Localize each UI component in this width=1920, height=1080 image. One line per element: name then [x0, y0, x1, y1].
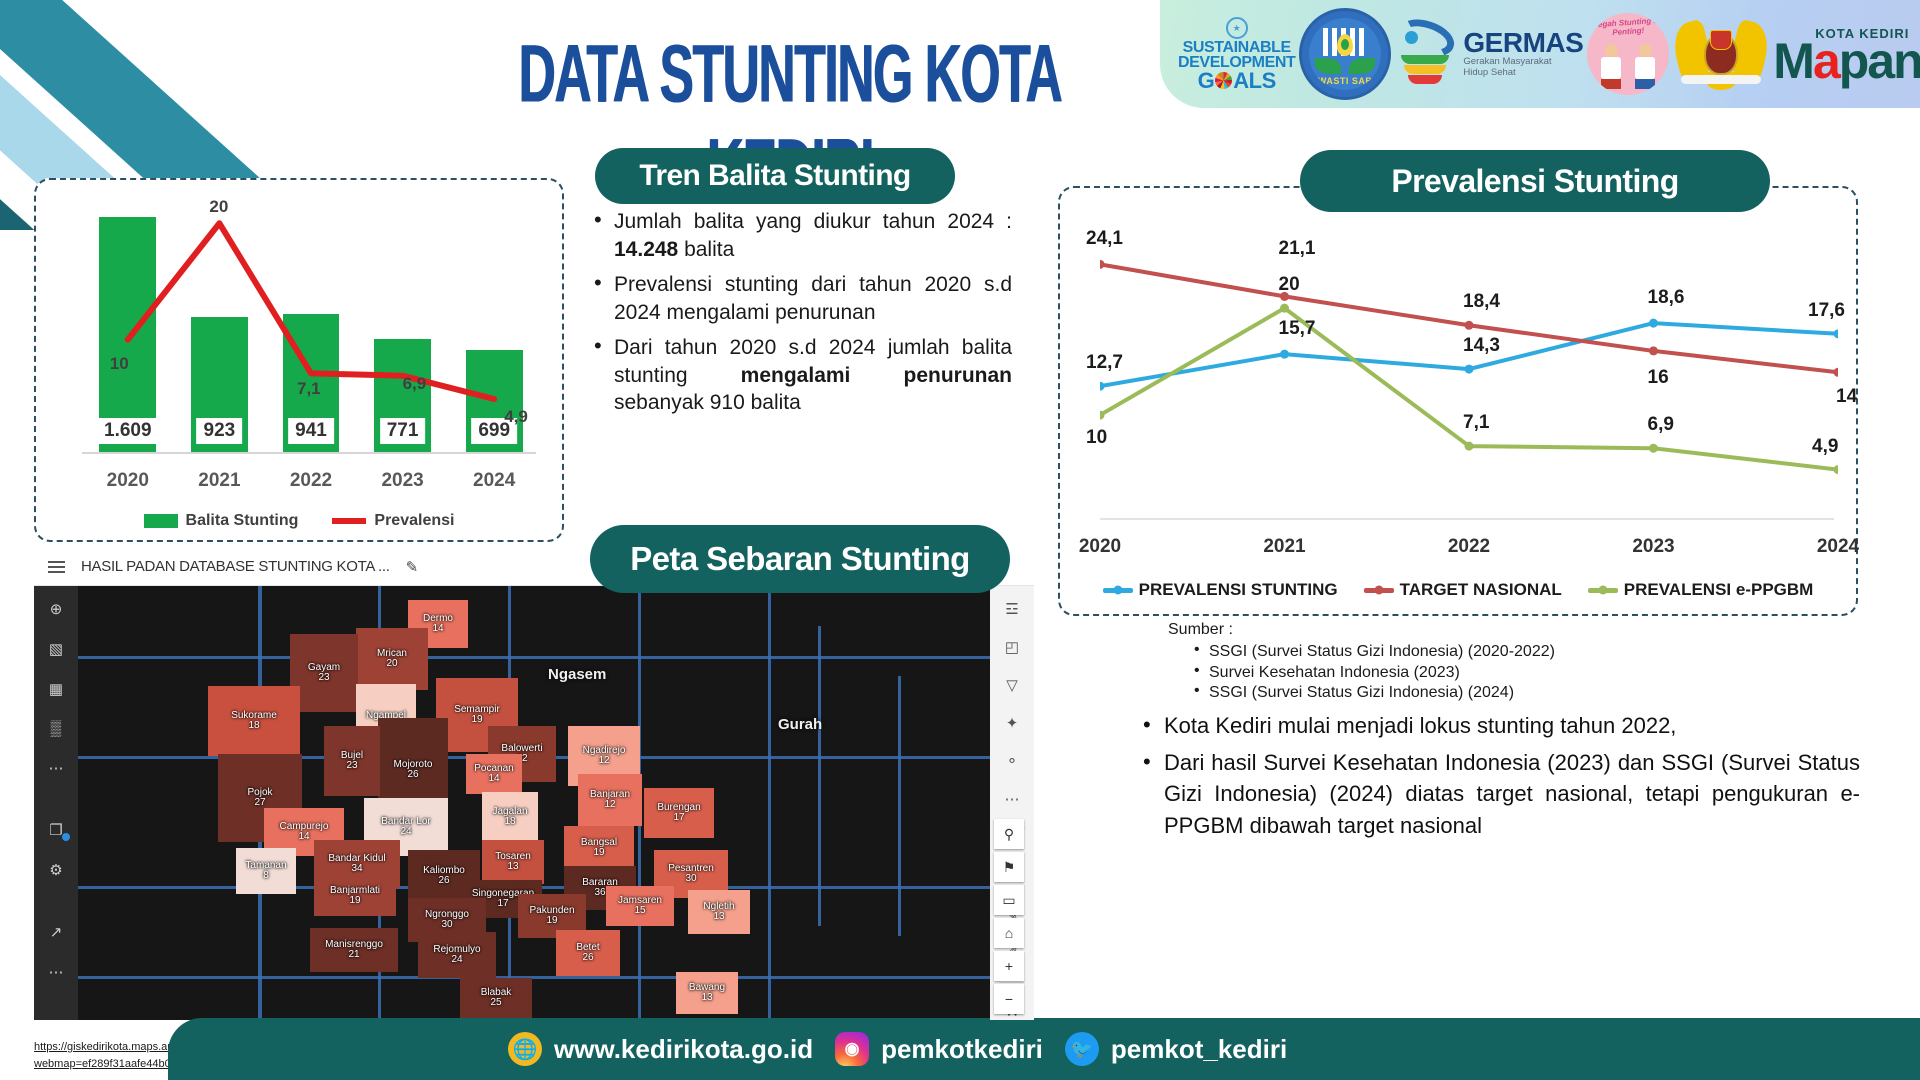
- line-x-tick: 2023: [1610, 536, 1698, 558]
- map-place-label: Gurah: [778, 716, 822, 733]
- more-icon[interactable]: ⋯: [1001, 790, 1023, 808]
- line-value-label: 15,7: [1279, 318, 1316, 340]
- footer-twitter[interactable]: 🐦 pemkot_kediri: [1065, 1032, 1287, 1066]
- globe-icon: 🌐: [508, 1032, 542, 1066]
- line-value-label: 4,9: [504, 407, 528, 427]
- map-village[interactable]: Jamsaren15: [606, 886, 674, 926]
- bar-x-tick: 2024: [448, 470, 540, 492]
- legend-entry: PREVALENSI STUNTING: [1103, 580, 1338, 600]
- map-village[interactable]: Rejomulyo24: [418, 932, 496, 978]
- village-value: 24: [451, 955, 462, 966]
- prevalensi-line: [82, 200, 540, 456]
- village-value: 23: [318, 673, 329, 684]
- map-village[interactable]: Manisrenggo21: [310, 928, 398, 972]
- mapan-a: a: [1813, 33, 1839, 89]
- line-value-label: 17,6: [1808, 300, 1845, 322]
- legend-label-balita: Balita Stunting: [186, 512, 299, 529]
- village-value: 23: [346, 761, 357, 772]
- garuda-pancasila-icon: [1673, 11, 1769, 97]
- germas-sub2: Hidup Sehat: [1463, 68, 1583, 79]
- settings-icon[interactable]: ⚙: [45, 861, 67, 879]
- map-place-label: Ngasem: [548, 666, 606, 683]
- line-x-tick: 2020: [1056, 536, 1144, 558]
- line-chart-legend: PREVALENSI STUNTINGTARGET NASIONALPREVAL…: [1060, 580, 1856, 600]
- legend-swatch-line: [332, 518, 366, 524]
- legend-prevalensi: Prevalensi: [332, 512, 454, 530]
- analysis-icon[interactable]: ⚬: [1001, 752, 1023, 770]
- share-icon[interactable]: ↗: [45, 923, 67, 941]
- section-heading-tren: Tren Balita Stunting: [595, 148, 955, 204]
- sumber-label: Sumber :: [1168, 620, 1555, 640]
- edit-icon[interactable]: ✎: [406, 558, 419, 576]
- line-value-label: 16: [1648, 367, 1669, 389]
- village-value: 14: [488, 774, 499, 785]
- map-village[interactable]: Mrican20: [356, 628, 428, 690]
- line-value-label: 6,9: [1648, 414, 1674, 436]
- village-value: 26: [582, 953, 593, 964]
- line-value-label: 10: [1086, 427, 1107, 449]
- line-value-label: 20: [209, 197, 228, 217]
- note-item: Dari hasil Survei Kesehatan Indonesia (2…: [1140, 747, 1860, 841]
- screen-icon[interactable]: ▭: [994, 885, 1024, 915]
- sdg-logo: ★ SUSTAINABLE DEVELOPMENT GALS: [1178, 11, 1295, 97]
- prevalensi-lines: [1100, 244, 1838, 522]
- village-value: 15: [634, 906, 645, 917]
- line-value-label: 14: [1836, 386, 1857, 408]
- line-value-label: 7,1: [1463, 412, 1489, 434]
- legend-swatch: [1103, 588, 1133, 593]
- line-x-tick: 2022: [1425, 536, 1513, 558]
- village-value: 26: [438, 876, 449, 887]
- village-value: 18: [504, 817, 515, 828]
- line-value-label: 10: [110, 354, 129, 374]
- village-value: 30: [685, 874, 696, 885]
- map-village[interactable]: Jagalan18: [482, 792, 538, 842]
- search-icon[interactable]: ⚲: [994, 819, 1024, 849]
- mapan-word: Mapan: [1773, 41, 1920, 82]
- map-village[interactable]: Banjaran12: [578, 774, 642, 826]
- village-value: 17: [497, 899, 508, 910]
- tren-bullet: Dari tahun 2020 s.d 2024 jumlah balita s…: [592, 334, 1012, 417]
- village-value: 13: [701, 993, 712, 1004]
- map-village[interactable]: Sukorame18: [208, 686, 300, 756]
- map-zoom-controls[interactable]: ⚲⚑▭⌂+−: [994, 819, 1024, 1014]
- map-left-rail[interactable]: ⊕▧▦▒⋯❐⚙↗⋯ⓘ: [34, 586, 78, 1020]
- village-value: 19: [546, 916, 557, 927]
- village-value: 14: [432, 624, 443, 635]
- mapan-rest: pan: [1839, 33, 1920, 89]
- map-canvas[interactable]: Dermo14Mrican20Gayam23Ngampel10Semampir1…: [78, 586, 996, 1020]
- bookmark-icon[interactable]: ⚑: [994, 852, 1024, 882]
- village-value: 34: [351, 864, 362, 875]
- line-chart-plot-area: 12,715,714,318,617,624,121,118,416141020…: [1100, 244, 1834, 518]
- bar-chart-axis: [82, 452, 536, 454]
- menu-icon[interactable]: [48, 561, 65, 573]
- sumber-item: SSGI (Survei Status Gizi Indonesia) (202…: [1194, 683, 1555, 703]
- village-value: 30: [441, 920, 452, 931]
- sdg-line3: GALS: [1198, 71, 1276, 91]
- village-value: 36: [594, 888, 605, 899]
- legend-balita-stunting: Balita Stunting: [144, 512, 299, 530]
- folder-icon[interactable]: ❐: [45, 821, 67, 839]
- village-value: 13: [713, 912, 724, 923]
- map-village[interactable]: Tosaren13: [482, 840, 544, 884]
- map-title: HASIL PADAN DATABASE STUNTING KOTA ...: [81, 558, 390, 575]
- village-value: 20: [386, 659, 397, 670]
- village-value: 18: [248, 721, 259, 732]
- bar-chart-plot-area: 1.60992394177169910207,16,94,9: [82, 200, 536, 452]
- tren-bullet-bold: mengalami penurunan: [741, 364, 1012, 387]
- village-value: 8: [263, 871, 269, 882]
- notes-block: Kota Kediri mulai menjadi lokus stunting…: [1140, 710, 1860, 847]
- zoom-in-icon[interactable]: +: [994, 951, 1024, 981]
- map-body[interactable]: ⊕▧▦▒⋯❐⚙↗⋯ⓘ Dermo14Mrican20Gayam23Ngampel…: [34, 586, 1034, 1020]
- village-value: 12: [604, 800, 615, 811]
- footer-bar: 🌐 www.kedirikota.go.id ◉ pemkotkediri 🐦 …: [168, 1018, 1920, 1080]
- germas-name: GERMAS: [1463, 29, 1583, 57]
- line-chart-panel: 12,715,714,318,617,624,121,118,416141020…: [1058, 186, 1858, 616]
- bar-x-tick: 2020: [82, 470, 174, 492]
- map-village[interactable]: Tamanan8: [236, 848, 296, 894]
- section-heading-peta: Peta Sebaran Stunting: [590, 525, 1010, 593]
- map-village[interactable]: Burengan17: [644, 788, 714, 838]
- line-chart-axis: [1100, 518, 1834, 520]
- media-icon[interactable]: ◰: [1001, 638, 1023, 656]
- map-road: [818, 626, 821, 926]
- bar-chart-legend: Balita Stunting Prevalensi: [36, 512, 562, 530]
- legend-label-prevalensi: Prevalensi: [374, 512, 454, 529]
- line-value-label: 18,6: [1648, 287, 1685, 309]
- layers-icon[interactable]: ▧: [45, 640, 67, 658]
- legend-swatch: [1364, 588, 1394, 593]
- germas-logo: GERMAS Gerakan Masyarakat Hidup Sehat: [1395, 11, 1583, 97]
- mapan-logo: KOTA KEDIRI Mapan: [1773, 11, 1920, 97]
- line-value-label: 20: [1279, 274, 1300, 296]
- tren-bullet-list: Jumlah balita yang diukur tahun 2024 : 1…: [592, 208, 1012, 425]
- legend-label: PREVALENSI STUNTING: [1139, 580, 1338, 600]
- map-road: [78, 976, 996, 979]
- tren-bullet: Jumlah balita yang diukur tahun 2024 : 1…: [592, 208, 1012, 263]
- filter-icon[interactable]: ▽: [1001, 676, 1023, 694]
- tren-bullet: Prevalensi stunting dari tahun 2020 s.d …: [592, 271, 1012, 326]
- bar-x-tick: 2021: [174, 470, 266, 492]
- swasti-saba-logo: SWASTI SABA: [1299, 11, 1391, 97]
- map-village[interactable]: Blabak25: [460, 978, 532, 1018]
- map-village[interactable]: Gayam23: [290, 634, 358, 712]
- table-icon[interactable]: ▦: [45, 680, 67, 698]
- zoom-out-icon[interactable]: −: [994, 984, 1024, 1014]
- sumber-item: SSGI (Survei Status Gizi Indonesia) (202…: [1194, 642, 1555, 662]
- instagram-icon: ◉: [835, 1032, 869, 1066]
- bar-x-tick: 2022: [265, 470, 357, 492]
- more-icon[interactable]: ⋯: [45, 759, 67, 777]
- village-value: 14: [298, 832, 309, 843]
- map-village[interactable]: Banjarmlati19: [314, 876, 396, 916]
- add-layer-icon[interactable]: ⊕: [45, 600, 67, 618]
- village-value: 24: [400, 827, 411, 838]
- un-emblem-icon: ★: [1226, 17, 1248, 39]
- legend-swatch-bar: [144, 514, 178, 528]
- line-x-tick: 2024: [1794, 536, 1882, 558]
- footer-website-label: www.kedirikota.go.id: [554, 1034, 813, 1065]
- map-village[interactable]: Ngletih13: [688, 890, 750, 934]
- swasti-caption: SWASTI SABA: [1309, 76, 1381, 86]
- logo-band: ★ SUSTAINABLE DEVELOPMENT GALS SWASTI SA…: [1160, 0, 1920, 108]
- mapan-m: M: [1773, 33, 1813, 89]
- legend-label: PREVALENSI e-PPGBM: [1624, 580, 1814, 600]
- line-value-label: 14,3: [1463, 335, 1500, 357]
- village-value: 17: [673, 813, 684, 824]
- line-value-label: 4,9: [1812, 436, 1838, 458]
- home-icon[interactable]: ⌂: [994, 918, 1024, 948]
- line-value-label: 24,1: [1086, 228, 1123, 250]
- effects-icon[interactable]: ✦: [1001, 714, 1023, 732]
- map-village[interactable]: Bangsal19: [564, 826, 634, 870]
- legend-label: TARGET NASIONAL: [1400, 580, 1562, 600]
- village-value: 25: [490, 998, 501, 1009]
- village-value: 12: [598, 756, 609, 767]
- note-item: Kota Kediri mulai menjadi lokus stunting…: [1140, 710, 1860, 741]
- line-value-label: 7,1: [297, 379, 321, 399]
- tren-balita-stunting-chart: 1.60992394177169910207,16,94,9 202020212…: [36, 180, 562, 540]
- line-value-label: 6,9: [403, 374, 427, 394]
- map-village[interactable]: Pocanan14: [466, 754, 522, 794]
- village-value: 26: [407, 770, 418, 781]
- footer-twitter-label: pemkot_kediri: [1111, 1034, 1287, 1065]
- sdg-wheel-icon: [1215, 72, 1232, 89]
- section-heading-prevalensi: Prevalensi Stunting: [1300, 150, 1770, 212]
- map-widget[interactable]: HASIL PADAN DATABASE STUNTING KOTA ... ✎…: [34, 548, 1034, 1020]
- legend-entry: TARGET NASIONAL: [1364, 580, 1562, 600]
- sumber-block: Sumber : SSGI (Survei Status Gizi Indone…: [1168, 620, 1555, 704]
- footer-instagram-label: pemkotkediri: [881, 1034, 1043, 1065]
- twitter-icon: 🐦: [1065, 1032, 1099, 1066]
- map-road: [898, 676, 901, 936]
- cegah-slogan: Cegah Stunting Itu Penting!: [1587, 15, 1669, 39]
- sumber-item: Survei Kesehatan Indonesia (2023): [1194, 663, 1555, 683]
- village-value: 13: [507, 862, 518, 873]
- footer-instagram[interactable]: ◉ pemkotkediri: [835, 1032, 1043, 1066]
- line-x-tick: 2021: [1241, 536, 1329, 558]
- cegah-stunting-logo: Cegah Stunting Itu Penting!: [1587, 11, 1669, 97]
- line-value-label: 18,4: [1463, 291, 1500, 313]
- village-value: 21: [348, 950, 359, 961]
- line-value-label: 12,7: [1086, 352, 1123, 374]
- map-village[interactable]: Bujel23: [324, 726, 380, 796]
- legend-entry: PREVALENSI e-PPGBM: [1588, 580, 1814, 600]
- map-village[interactable]: Betet26: [556, 930, 620, 976]
- village-value: 19: [349, 896, 360, 907]
- village-value: 19: [593, 848, 604, 859]
- map-road: [78, 656, 996, 659]
- bar-x-tick: 2023: [357, 470, 449, 492]
- legend-swatch: [1588, 588, 1618, 593]
- line-value-label: 21,1: [1279, 238, 1316, 260]
- bar-chart-panel: 1.60992394177169910207,16,94,9 202020212…: [34, 178, 564, 542]
- map-road: [768, 586, 771, 1020]
- sliders-icon[interactable]: ☲: [1001, 600, 1023, 618]
- village-value: 27: [254, 798, 265, 809]
- more-icon[interactable]: ⋯: [45, 963, 67, 981]
- footer-website[interactable]: 🌐 www.kedirikota.go.id: [508, 1032, 813, 1066]
- basemap-icon[interactable]: ▒: [45, 720, 67, 737]
- germas-figure-icon: [1395, 19, 1457, 89]
- map-village[interactable]: Bawang13: [676, 972, 738, 1014]
- village-value: 19: [471, 715, 482, 726]
- tren-bullet-bold: 14.248: [614, 238, 678, 261]
